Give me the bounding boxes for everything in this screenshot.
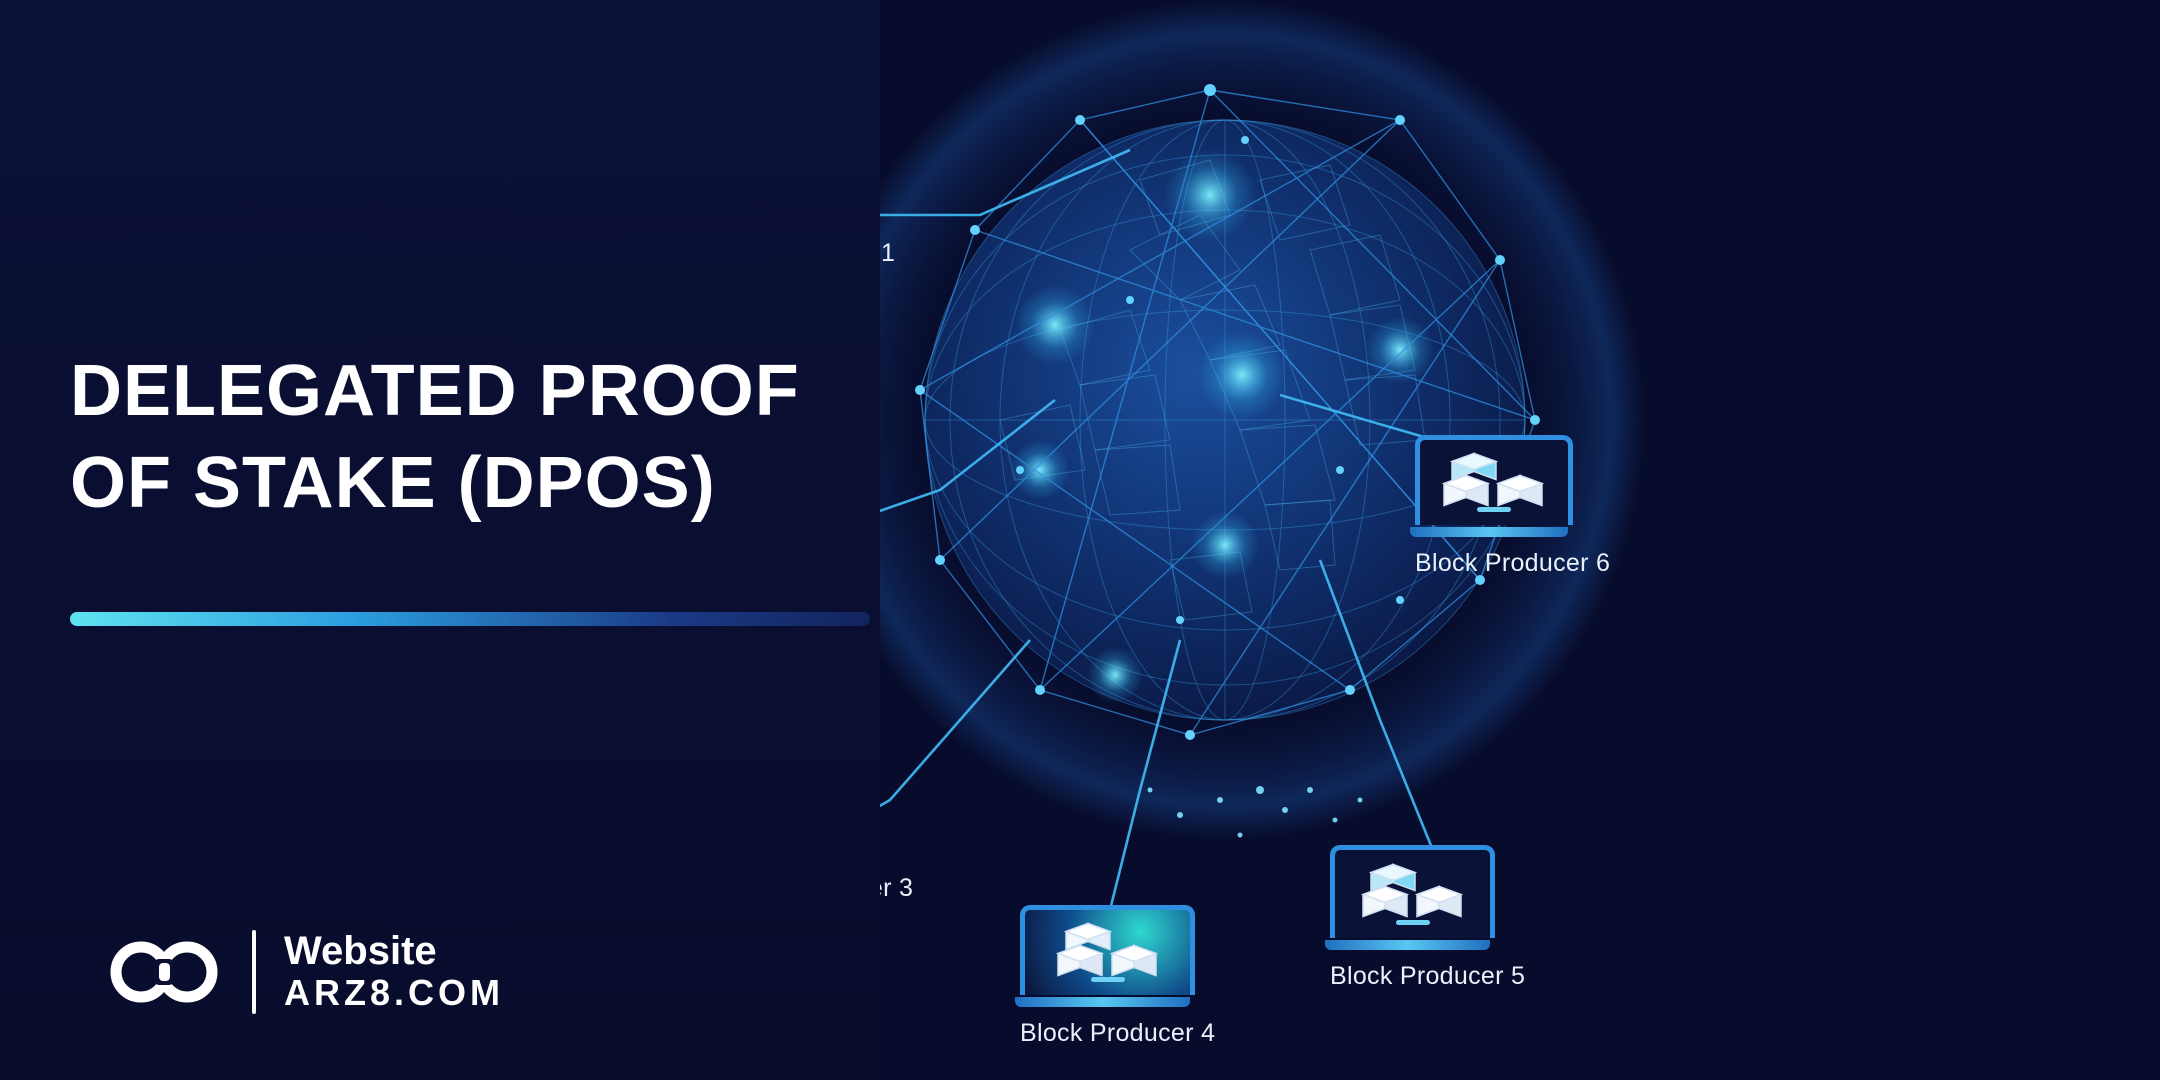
left-panel: DELEGATED PROOF OF STAKE (DPOS) Website … xyxy=(0,0,880,1080)
node-block-producer-6[interactable]: Block Producer 6 xyxy=(1415,435,1610,578)
network-scene: Block Producer 1 xyxy=(880,0,2160,1080)
logo-line-1: Website xyxy=(284,930,504,972)
title-underline-bar xyxy=(70,612,870,626)
site-logo: Website ARZ8.COM xyxy=(110,930,504,1014)
title-line-1: DELEGATED PROOF xyxy=(70,345,910,437)
node-label: Block Producer 4 xyxy=(1020,1019,1215,1048)
node-label: Block Producer 6 xyxy=(1415,549,1610,578)
node-block-producer-4[interactable]: Block Producer 4 xyxy=(1020,905,1215,1048)
laptop-blocks-icon xyxy=(1415,435,1610,537)
laptop-blocks-icon xyxy=(1330,845,1525,950)
node-label: Block Producer 1 xyxy=(880,239,895,268)
node-label: Block Producer 3 xyxy=(880,874,913,903)
title-line-2: OF STAKE (DPOS) xyxy=(70,437,910,529)
node-block-producer-3[interactable]: Block Producer 3 xyxy=(880,765,913,903)
node-block-producer-5[interactable]: Block Producer 5 xyxy=(1330,845,1525,991)
laptop-blocks-icon xyxy=(1020,905,1215,1007)
infographic-canvas: DELEGATED PROOF OF STAKE (DPOS) Website … xyxy=(0,0,2160,1080)
infinity-links-icon xyxy=(110,933,218,1011)
laptop-blocks-icon xyxy=(880,765,913,862)
node-label: Block Producer 5 xyxy=(1330,962,1525,991)
node-block-producer-1[interactable]: Block Producer 1 xyxy=(880,130,895,268)
page-title: DELEGATED PROOF OF STAKE (DPOS) xyxy=(70,345,910,529)
laptop-blocks-icon xyxy=(880,130,895,227)
logo-line-2: ARZ8.COM xyxy=(284,972,504,1013)
logo-divider xyxy=(252,930,256,1014)
